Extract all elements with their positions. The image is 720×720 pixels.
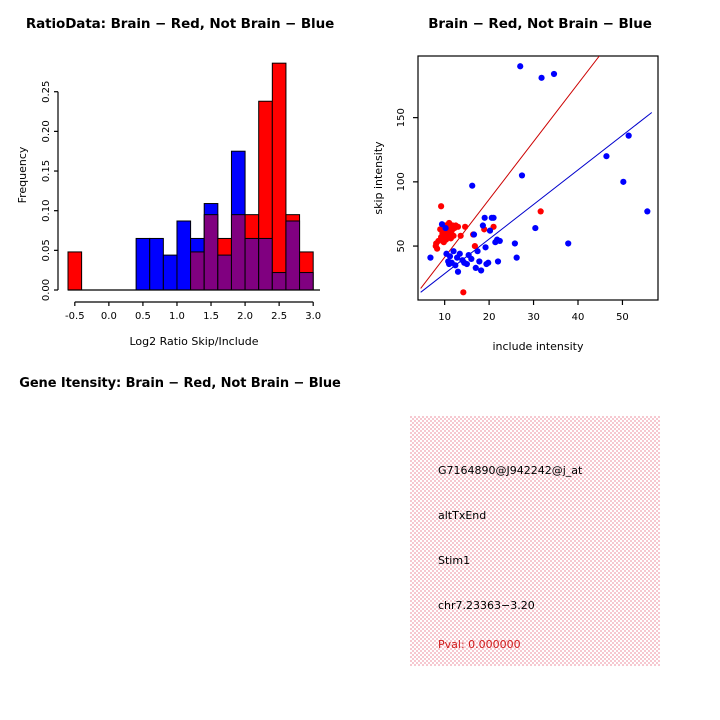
x-axis: 1020304050: [438, 300, 629, 323]
histogram-bar-overlap: [231, 215, 245, 290]
x-axis-title: Log2 Ratio Skip/Include: [129, 335, 258, 348]
scatter-point: [442, 225, 448, 231]
y-tick-label: 0.20: [41, 120, 52, 142]
scatter-point: [644, 208, 650, 214]
histogram-bar-overlap: [218, 255, 232, 290]
y-tick-label: 0.10: [41, 200, 52, 222]
scatter-point: [490, 215, 496, 221]
y-tick-label: 0.15: [41, 160, 52, 182]
scatter-point: [476, 258, 482, 264]
histogram-bar: [68, 252, 82, 290]
scatter-point: [464, 261, 470, 267]
scatter-point: [620, 179, 626, 185]
histogram-bar-overlap: [191, 252, 205, 290]
histogram-bar-overlap: [245, 238, 259, 290]
gene-symbol-label: Stim1: [438, 554, 470, 567]
y-tick-label: 150: [396, 108, 407, 127]
x-tick-label: 1.5: [203, 311, 219, 322]
scatter-point: [482, 244, 488, 250]
histogram-bar-overlap: [300, 273, 314, 290]
x-tick-label: -0.5: [65, 311, 85, 322]
x-tick-label: 20: [483, 312, 496, 323]
scatter-point: [551, 71, 557, 77]
x-tick-label: 50: [616, 312, 629, 323]
histogram-bar-overlap: [272, 273, 286, 290]
pval-label: Pval: 0.000000: [438, 638, 521, 651]
scatter-title: Brain − Red, Not Brain − Blue: [360, 16, 720, 32]
scatter-point: [487, 228, 493, 234]
scatter-point: [626, 133, 632, 139]
scatter-point: [455, 269, 461, 275]
scatter-point: [532, 225, 538, 231]
histogram-bar: [136, 238, 150, 290]
panel-gene-histogram: Gene Itensity: Brain − Red, Not Brain − …: [0, 360, 360, 720]
scatter-point: [512, 240, 518, 246]
scatter-point: [538, 208, 544, 214]
scatter-point: [514, 255, 520, 261]
scatter-point: [471, 231, 477, 237]
x-axis-title: include intensity: [492, 340, 584, 353]
scatter-point: [480, 222, 486, 228]
scatter-point: [517, 63, 523, 69]
scatter-point: [474, 248, 480, 254]
info-box: G7164890@J942242@j_at altTxEnd Stim1 chr…: [410, 416, 660, 666]
scatter-point: [473, 265, 479, 271]
y-axis-title: skip intensity: [372, 141, 385, 215]
gene-histogram-plot: 0.000.050.100.150.200.250.3050100150Inte…: [0, 360, 360, 720]
scatter-point: [519, 172, 525, 178]
x-axis: -0.50.00.51.01.52.02.53.0: [65, 302, 321, 322]
x-tick-label: 40: [572, 312, 585, 323]
x-tick-label: 2.5: [271, 311, 287, 322]
scatter-point: [469, 183, 475, 189]
scatter-point: [458, 233, 464, 239]
scatter-point: [438, 203, 444, 209]
histogram-bar: [272, 63, 286, 290]
ratio-histogram-plot: 0.000.050.100.150.200.25-0.50.00.51.01.5…: [0, 0, 360, 360]
histogram-bar: [163, 255, 177, 290]
scatter-point: [482, 215, 488, 221]
scatter-point: [478, 267, 484, 273]
scatter-point: [538, 75, 544, 81]
scatter-point: [427, 255, 433, 261]
gene-histogram-title: Gene Itensity: Brain − Red, Not Brain − …: [0, 376, 360, 391]
x-tick-label: 30: [527, 312, 540, 323]
scatter-point: [433, 240, 439, 246]
x-tick-label: 2.0: [237, 311, 253, 322]
x-tick-label: 0.0: [101, 311, 117, 322]
histogram-bar: [150, 238, 164, 290]
panel-ratio-histogram: RatioData: Brain − Red, Not Brain − Blue…: [0, 0, 360, 360]
histogram-bar-overlap: [204, 215, 218, 290]
ratio-histogram-title: RatioData: Brain − Red, Not Brain − Blue: [0, 16, 360, 32]
histogram-bar-overlap: [259, 238, 273, 290]
y-tick-label: 50: [396, 240, 407, 253]
scatter-point: [495, 258, 501, 264]
x-tick-label: 0.5: [135, 311, 151, 322]
scatter-point: [450, 248, 456, 254]
y-tick-label: 100: [396, 172, 407, 191]
histogram-bars: [68, 63, 313, 290]
scatter-point: [485, 260, 491, 266]
scatter-point: [460, 289, 466, 295]
scatter-content: [421, 56, 652, 295]
scatter-point: [450, 233, 456, 239]
scatter-plot: 102030405050100150include intensityskip …: [360, 0, 720, 360]
scatter-point: [457, 251, 463, 257]
scatter-point: [497, 238, 503, 244]
scatter-point: [468, 256, 474, 262]
locus-label: chr7.23363−3.20: [438, 599, 535, 612]
y-axis: 50100150: [396, 108, 418, 252]
histogram-bar: [177, 221, 191, 290]
x-tick-label: 3.0: [305, 311, 321, 322]
histogram-bar-overlap: [286, 221, 300, 290]
probe-id-label: G7164890@J942242@j_at: [438, 464, 582, 477]
x-tick-label: 1.0: [169, 311, 185, 322]
scatter-point: [455, 224, 461, 230]
panel-scatter: Brain − Red, Not Brain − Blue 1020304050…: [360, 0, 720, 360]
x-tick-label: 10: [438, 312, 451, 323]
y-tick-label: 0.05: [41, 239, 52, 261]
y-axis: 0.000.050.100.150.200.25: [41, 81, 58, 302]
scatter-point: [447, 253, 453, 259]
panel-info: G7164890@J942242@j_at altTxEnd Stim1 chr…: [360, 360, 720, 720]
scatter-point: [452, 262, 458, 268]
scatter-point: [565, 240, 571, 246]
scatter-point: [603, 153, 609, 159]
y-tick-label: 0.25: [41, 81, 52, 103]
y-axis-title: Frequency: [16, 146, 29, 203]
event-type-label: altTxEnd: [438, 509, 486, 522]
scatter-point: [462, 224, 468, 230]
y-tick-label: 0.00: [41, 279, 52, 301]
